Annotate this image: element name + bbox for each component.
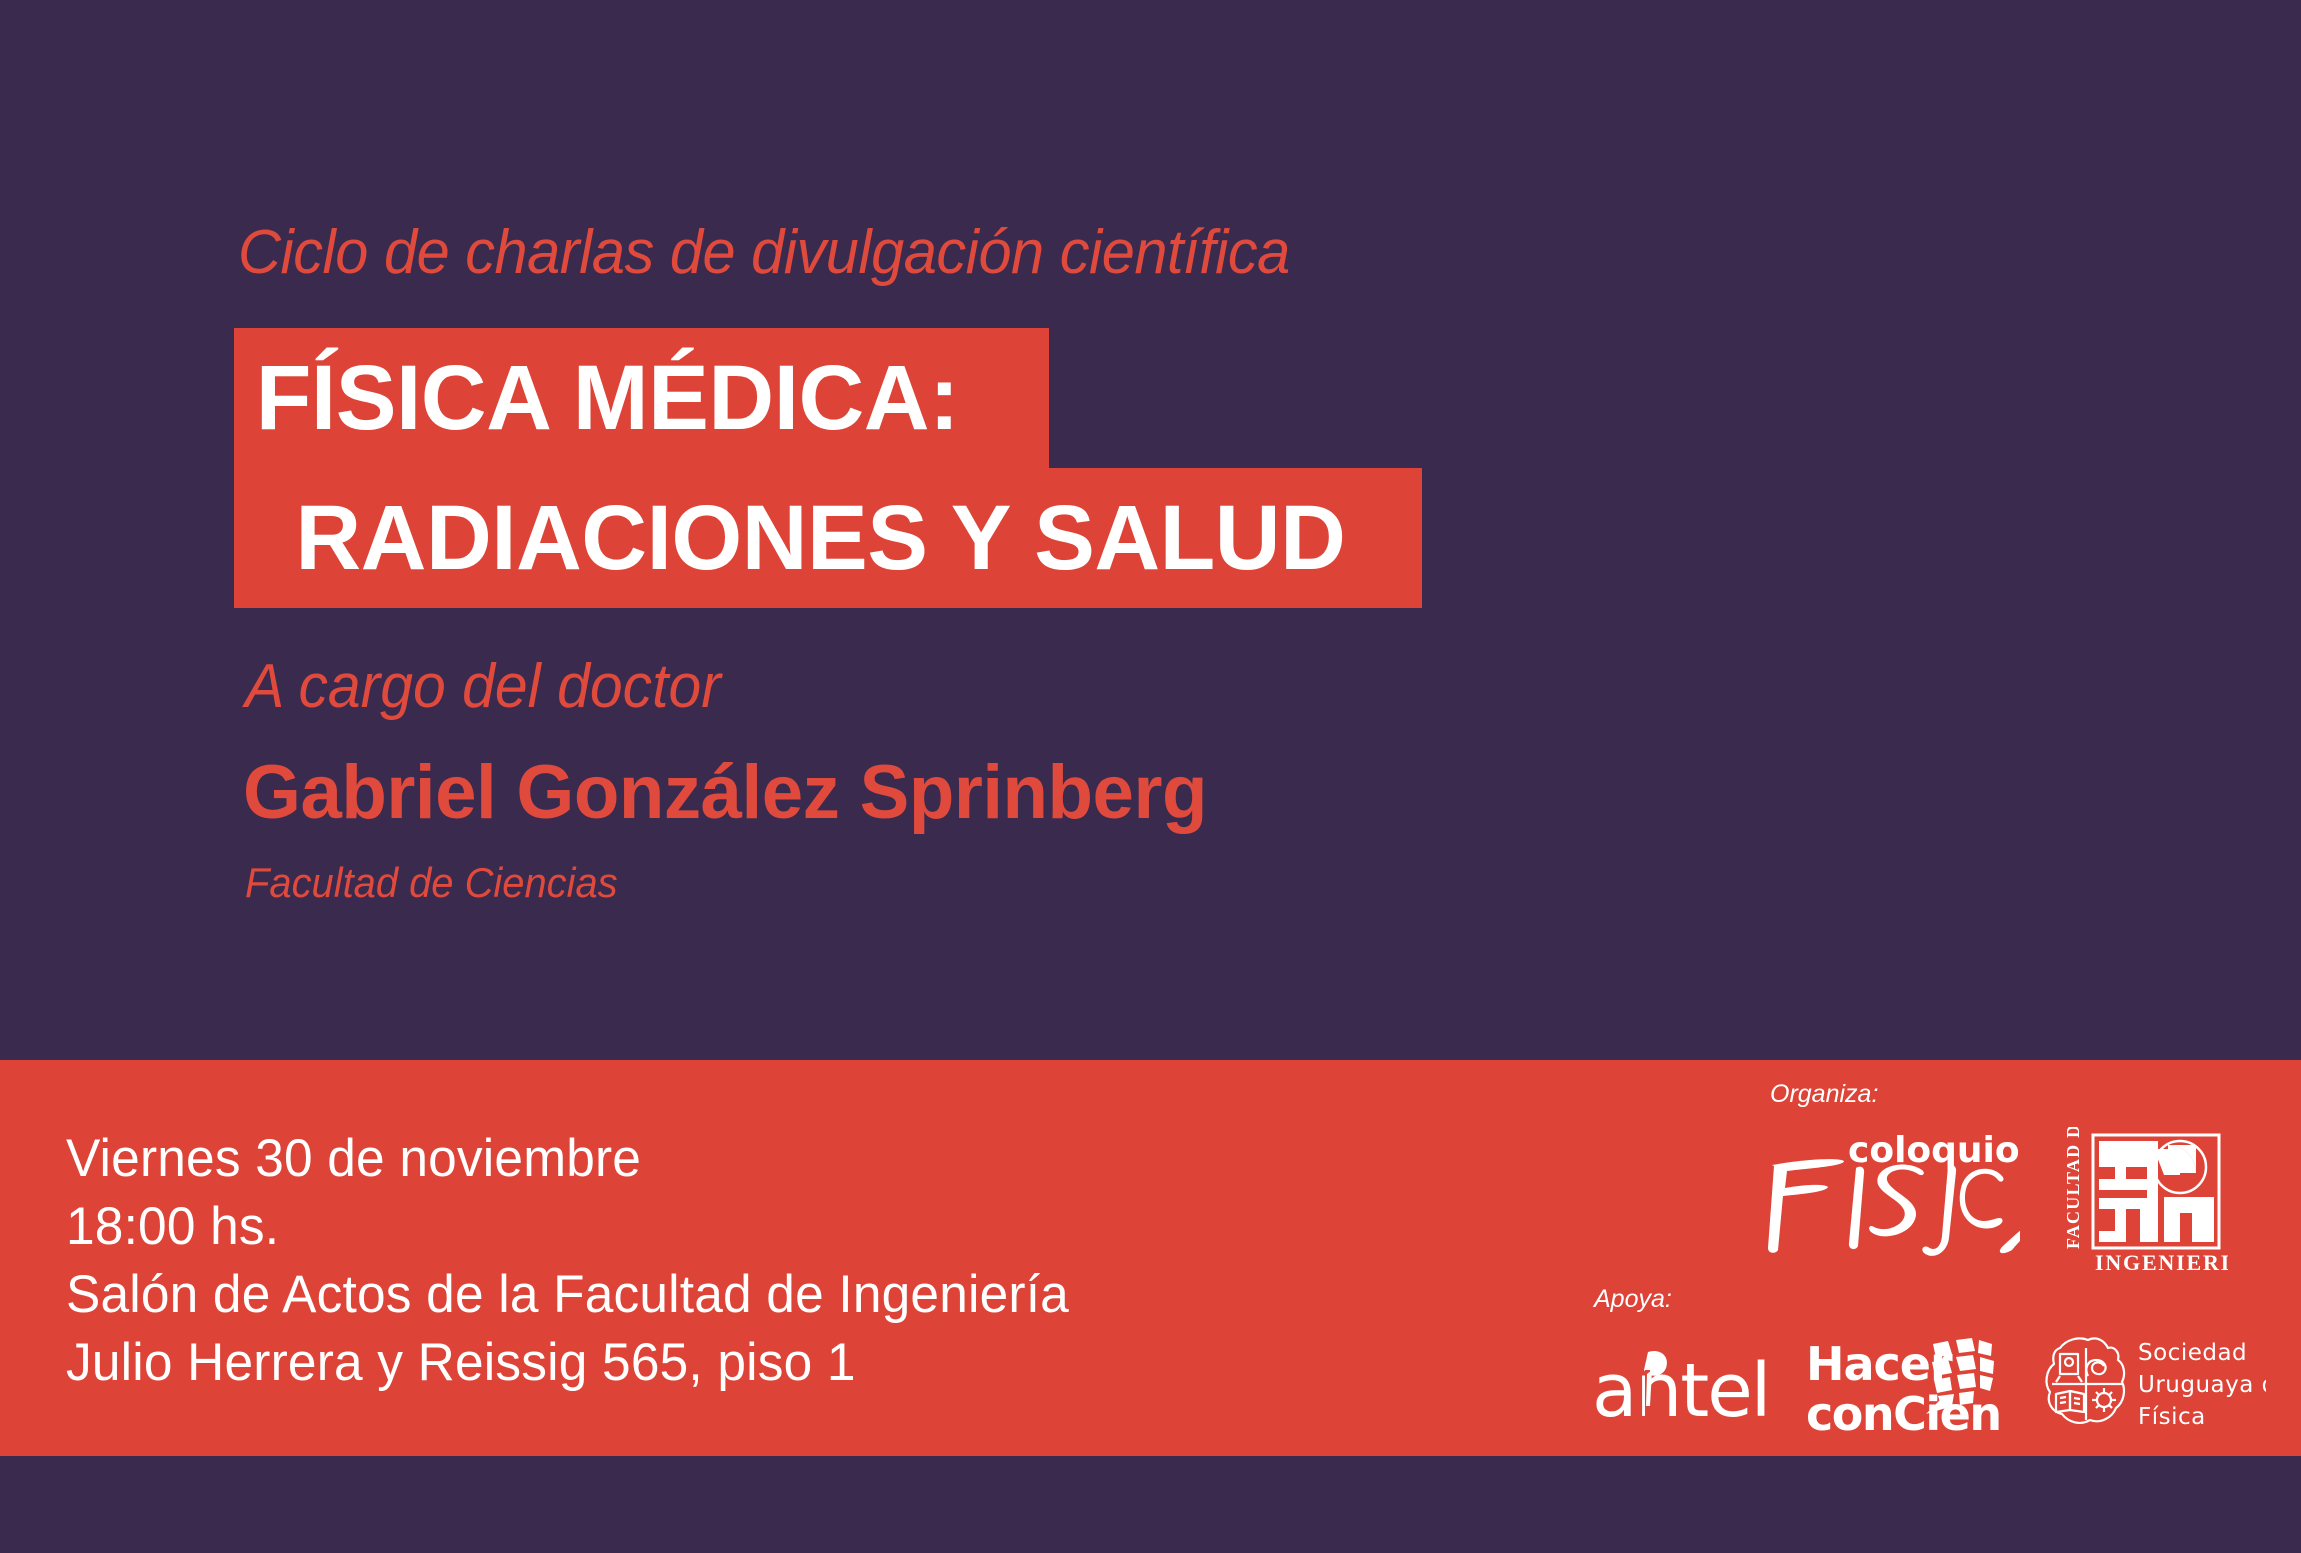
antel-logo: antel — [1592, 1344, 1778, 1436]
event-poster: Ciclo de charlas de divulgación científi… — [0, 0, 2301, 1553]
hacer-text: Hacer — [1806, 1337, 1953, 1391]
organiza-label: Organiza: — [1770, 1080, 1878, 1109]
suf-line-3: Física — [2138, 1404, 2206, 1430]
series-kicker: Ciclo de charlas de divulgación científi… — [238, 222, 1290, 284]
suf-line-1: Sociedad — [2138, 1340, 2247, 1366]
event-time: 18:00 hs. — [66, 1193, 1069, 1261]
facultad-de-ingenieria-logo: FACULTAD DE INGENIERIA — [2052, 1127, 2228, 1277]
coloquios-wordmark: coloquios — [1848, 1130, 2020, 1171]
title-highlight-block-1: FÍSICA MÉDICA: — [234, 328, 1049, 468]
uruguay-map-icon — [2047, 1338, 2125, 1422]
speaker-byline: A cargo del doctor — [245, 656, 721, 718]
facultad-de-vertical-text: FACULTAD DE — [2063, 1127, 2083, 1249]
event-address: Julio Herrera y Reissig 565, piso 1 — [66, 1329, 1069, 1397]
event-details: Viernes 30 de noviembre 18:00 hs. Salón … — [66, 1125, 1100, 1397]
event-date: Viernes 30 de noviembre — [66, 1125, 1069, 1193]
speaker-name: Gabriel González Sprinberg — [243, 755, 1207, 831]
page-title-line-1: FÍSICA MÉDICA: — [234, 352, 959, 444]
sociedad-uruguaya-de-fisica-logo: Sociedad Uruguaya de Física — [2038, 1332, 2266, 1440]
fisica-brush-wordmark — [1768, 1159, 2020, 1256]
speaker-affiliation: Facultad de Ciencias — [245, 862, 618, 904]
suf-line-2: Uruguaya de — [2138, 1372, 2266, 1398]
bottom-purple-strip — [0, 1456, 2301, 1553]
title-highlight-block-2: RADIACIONES Y SALUD — [234, 468, 1422, 608]
hacer-conciencia-logo: Hacer conCiencia — [1806, 1336, 2002, 1444]
event-venue: Salón de Actos de la Facultad de Ingenie… — [66, 1261, 1069, 1329]
antel-wordmark: antel — [1592, 1348, 1769, 1434]
coloquios-fisica-logo: coloquios — [1752, 1128, 2020, 1276]
apoya-label: Apoya: — [1594, 1285, 1672, 1314]
ingenieria-text: INGENIERIA — [2095, 1250, 2228, 1275]
page-title-line-2: RADIACIONES Y SALUD — [234, 492, 1345, 584]
